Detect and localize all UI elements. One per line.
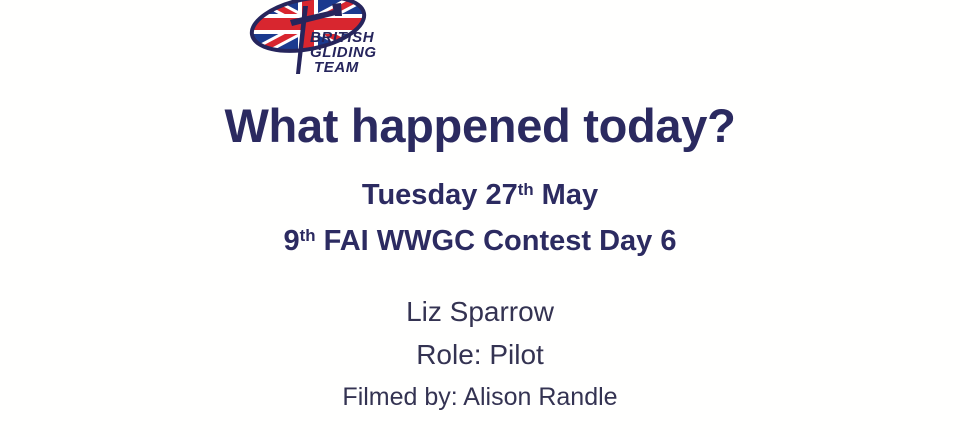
logo-mark-icon: BRITISH GLIDING TEAM xyxy=(246,0,396,82)
page-title: What happened today? xyxy=(0,101,960,150)
presenter-name: Liz Sparrow xyxy=(0,296,960,328)
filmed-by-credit: Filmed by: Alison Randle xyxy=(0,383,960,412)
subtitle-date-suffix: May xyxy=(534,179,598,211)
logo-wordmark-line-3: TEAM xyxy=(314,59,359,76)
subtitle-event-ordinal: th xyxy=(300,226,316,245)
subtitle-date: Tuesday 27th May xyxy=(0,180,960,212)
subtitle-event: 9th FAI WWGC Contest Day 6 xyxy=(0,226,960,258)
british-gliding-team-logo: BRITISH GLIDING TEAM xyxy=(246,0,396,82)
presenter-role: Role: Pilot xyxy=(0,339,960,371)
subtitle-date-prefix: Tuesday 27 xyxy=(362,179,518,211)
subtitle-event-suffix: FAI WWGC Contest Day 6 xyxy=(316,225,677,257)
title-slide: BRITISH GLIDING TEAM What happened today… xyxy=(0,0,960,437)
subtitle-date-ordinal: th xyxy=(518,180,534,199)
subtitle-event-prefix: 9 xyxy=(284,225,300,257)
